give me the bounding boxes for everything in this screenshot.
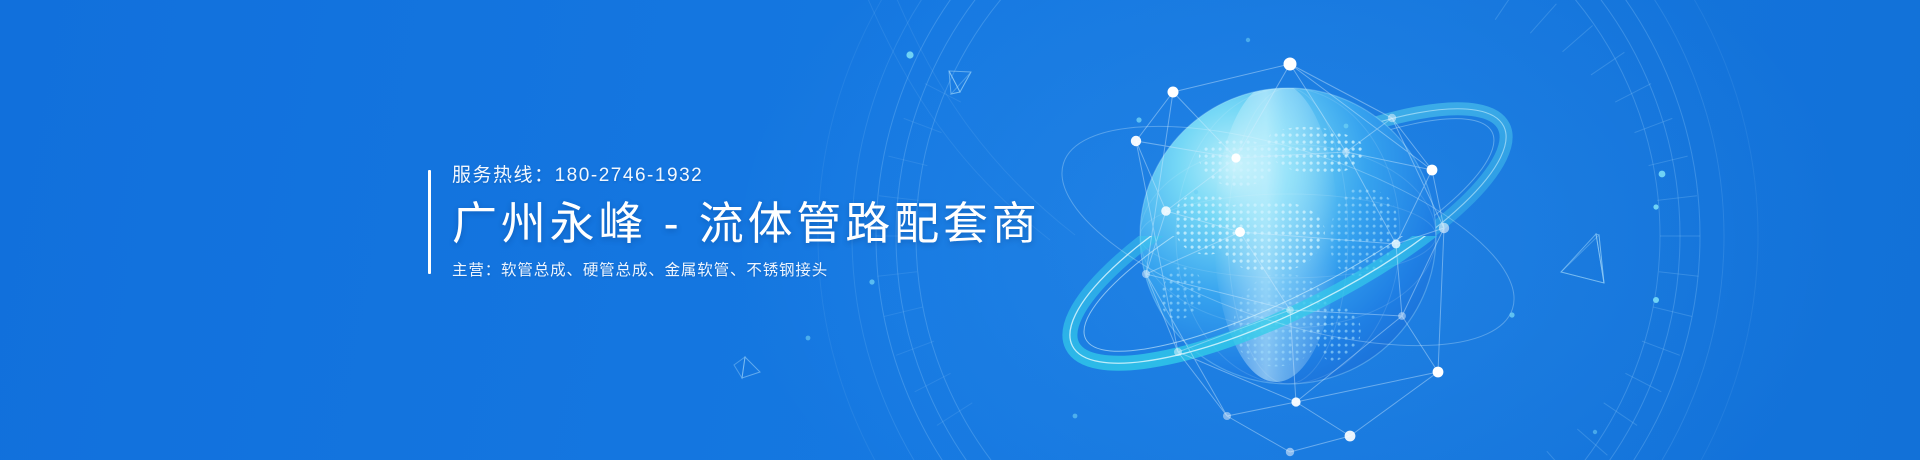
service-hotline: 服务热线：180-2746-1932 — [452, 166, 1041, 187]
hero-banner: 服务热线：180-2746-1932 广州永峰 - 流体管路配套商 主营：软管总… — [0, 0, 1920, 460]
accent-bar — [428, 170, 431, 274]
banner-subtitle: 主营：软管总成、硬管总成、金属软管、不锈钢接头 — [452, 262, 1041, 281]
banner-title: 广州永峰 - 流体管路配套商 — [452, 198, 1041, 249]
banner-text-block: 服务热线：180-2746-1932 广州永峰 - 流体管路配套商 主营：软管总… — [428, 166, 1041, 281]
